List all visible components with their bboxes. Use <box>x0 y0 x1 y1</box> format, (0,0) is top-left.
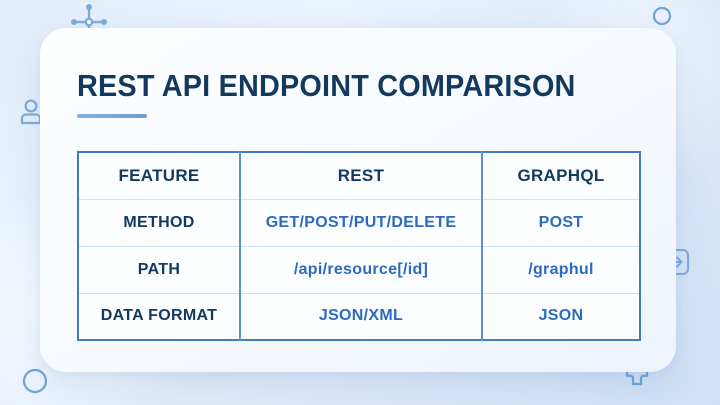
cell-graphql-path: /graphul <box>482 246 640 293</box>
cell-rest-path: /api/resource[/id] <box>240 246 482 293</box>
circle-outline-icon <box>22 368 48 394</box>
title-accent-rule <box>77 114 147 118</box>
circle-outline-icon <box>652 6 672 26</box>
column-header-graphql: GRAPHQL <box>482 152 640 199</box>
row-label-data-format: DATA FORMAT <box>78 293 240 340</box>
slide-card: REST API ENDPOINT COMPARISON FEATURE RES… <box>40 28 676 372</box>
column-header-feature: FEATURE <box>78 152 240 199</box>
table-row: DATA FORMAT JSON/XML JSON <box>78 293 640 340</box>
table-row: METHOD GET/POST/PUT/DELETE POST <box>78 199 640 246</box>
page-title: REST API ENDPOINT COMPARISON <box>77 70 576 101</box>
row-label-method: METHOD <box>78 199 240 246</box>
cell-graphql-method: POST <box>482 199 640 246</box>
column-header-rest: REST <box>240 152 482 199</box>
table-row: PATH /api/resource[/id] /graphul <box>78 246 640 293</box>
cell-rest-data-format: JSON/XML <box>240 293 482 340</box>
row-label-path: PATH <box>78 246 240 293</box>
cell-rest-method: GET/POST/PUT/DELETE <box>240 199 482 246</box>
comparison-table: FEATURE REST GRAPHQL METHOD GET/POST/PUT… <box>77 151 641 341</box>
cell-graphql-data-format: JSON <box>482 293 640 340</box>
table-header-row: FEATURE REST GRAPHQL <box>78 152 640 199</box>
